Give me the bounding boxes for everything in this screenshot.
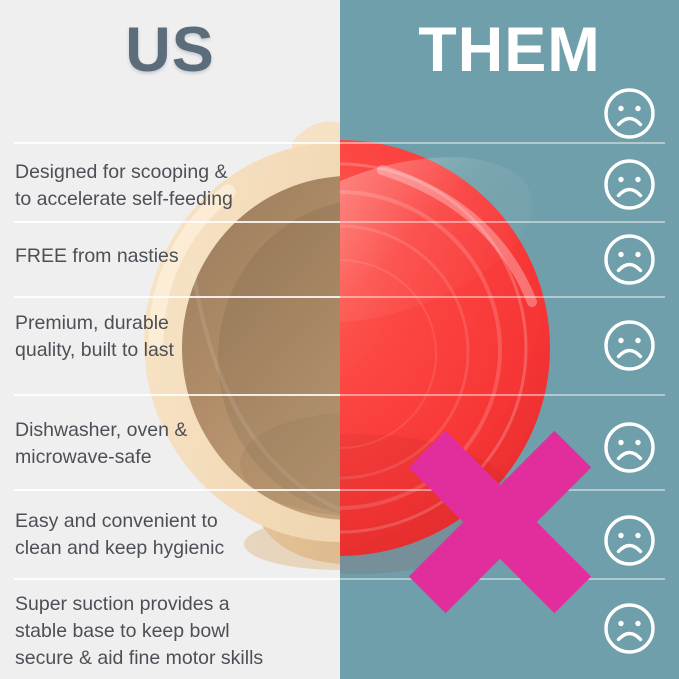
feature-line: clean and keep hygienic <box>15 535 325 562</box>
feature-line: Designed for scooping & <box>15 159 325 186</box>
us-heading: US <box>0 12 340 88</box>
feature-line: Dishwasher, oven & <box>15 417 325 444</box>
feature-row-5: Easy and convenient to clean and keep hy… <box>15 508 325 562</box>
feature-line: stable base to keep bowl <box>15 618 325 645</box>
feature-line: Easy and convenient to <box>15 508 325 535</box>
feature-line: secure & aid fine motor skills <box>15 645 325 672</box>
them-heading: THEM <box>340 12 679 88</box>
sad-face-icon <box>602 86 657 141</box>
feature-line: Super suction provides a <box>15 591 325 618</box>
feature-line: Premium, durable <box>15 310 325 337</box>
feature-row-2: FREE from nasties <box>15 243 325 270</box>
feature-line: to accelerate self-feeding <box>15 186 325 213</box>
sad-face-icon <box>602 601 657 656</box>
feature-row-6: Super suction provides a stable base to … <box>15 591 325 672</box>
comparison-infographic: US THEM Designed for scooping & to accel… <box>0 0 679 679</box>
feature-line: FREE from nasties <box>15 243 325 270</box>
feature-row-4: Dishwasher, oven & microwave-safe <box>15 417 325 471</box>
feature-line: microwave-safe <box>15 444 325 471</box>
sad-face-icon <box>602 420 657 475</box>
feature-row-1: Designed for scooping & to accelerate se… <box>15 159 325 213</box>
feature-row-3: Premium, durable quality, built to last <box>15 310 325 364</box>
sad-face-icon <box>602 157 657 212</box>
sad-face-icon <box>602 232 657 287</box>
sad-face-icon <box>602 513 657 568</box>
feature-line: quality, built to last <box>15 337 325 364</box>
sad-face-icon <box>602 318 657 373</box>
